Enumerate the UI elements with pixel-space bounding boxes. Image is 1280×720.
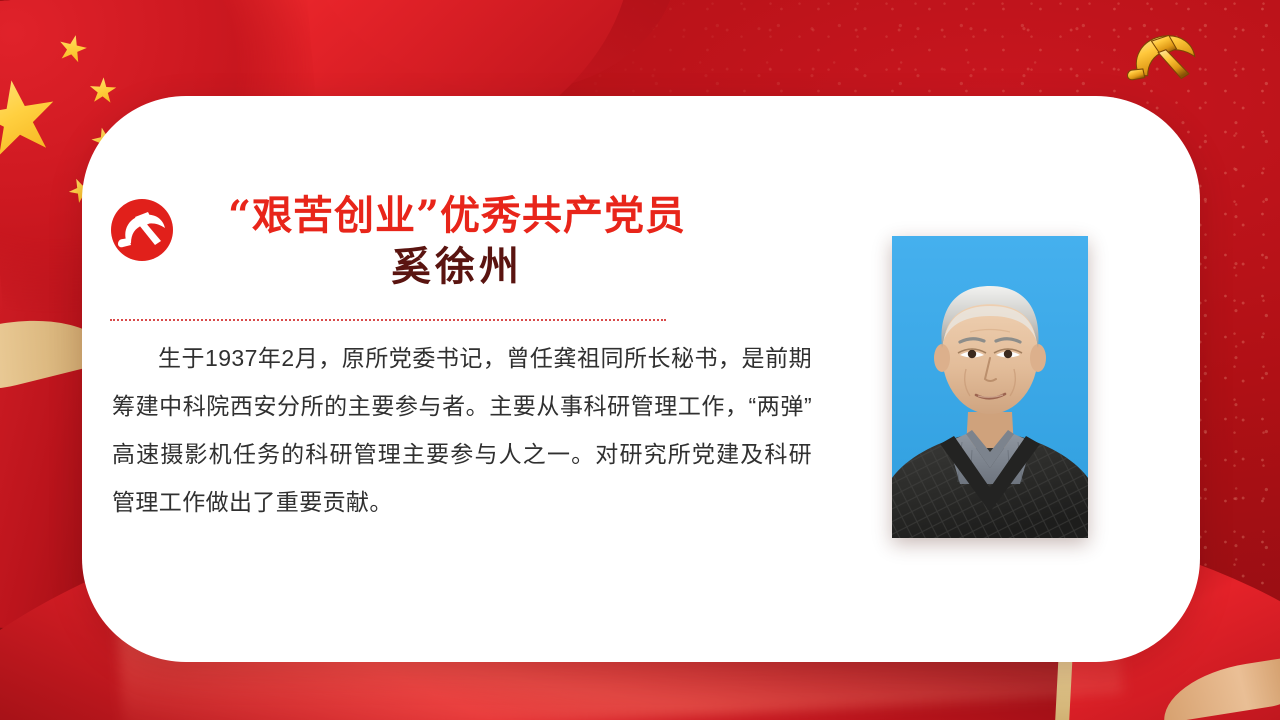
card-header: “艰苦创业”优秀共产党员 奚徐州 <box>110 194 750 291</box>
content-card: “艰苦创业”优秀共产党员 奚徐州 生于1937年2月，原所党委书记，曾任龚祖同所… <box>82 96 1200 662</box>
flag-star-small-1 <box>56 32 90 66</box>
portrait-photo <box>892 236 1088 538</box>
hammer-and-sickle-badge-icon <box>110 198 174 262</box>
golden-hammer-and-sickle-icon <box>1116 20 1212 96</box>
person-name: 奚徐州 <box>188 243 726 291</box>
flag-star-large <box>0 74 62 163</box>
dotted-divider <box>110 319 666 321</box>
title-block: “艰苦创业”优秀共产党员 奚徐州 <box>188 194 726 291</box>
slide-root: “艰苦创业”优秀共产党员 奚徐州 生于1937年2月，原所党委书记，曾任龚祖同所… <box>0 0 1280 720</box>
biography-paragraph: 生于1937年2月，原所党委书记，曾任龚祖同所长秘书，是前期筹建中科院西安分所的… <box>112 334 812 526</box>
page-title: “艰苦创业”优秀共产党员 <box>188 194 726 239</box>
